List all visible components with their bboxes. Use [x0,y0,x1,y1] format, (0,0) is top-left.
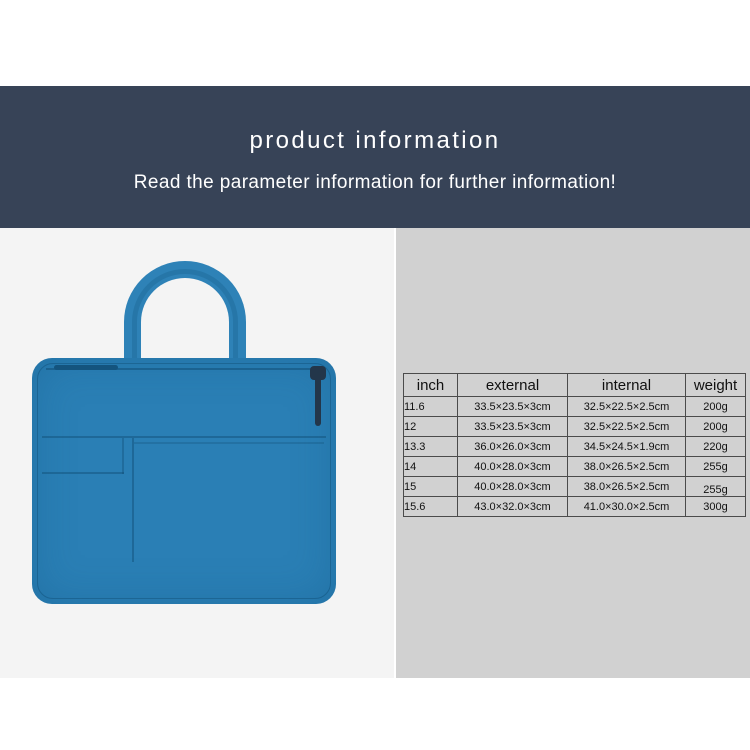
column-header-weight: weight [686,374,746,397]
cell-weight: 200g [686,417,746,437]
column-header-internal: internal [568,374,686,397]
cell-internal: 41.0×30.0×2.5cm [568,497,686,517]
bag-small-pocket-edge [122,438,124,474]
cell-internal: 38.0×26.5×2.5cm [568,477,686,497]
cell-external: 33.5×23.5×3cm [458,397,568,417]
bag-large-pocket-edge [134,442,324,444]
cell-external: 40.0×28.0×3cm [458,457,568,477]
bag-top-zipper-slot [54,365,118,370]
cell-internal: 32.5×22.5×2.5cm [568,397,686,417]
cell-weight: 255g [686,477,746,497]
table-row: 15.6 43.0×32.0×3cm 41.0×30.0×2.5cm 300g [404,497,746,517]
product-photo [0,228,394,678]
column-header-external: external [458,374,568,397]
specification-table: inch external internal weight 11.6 33.5×… [403,373,746,517]
cell-inch: 11.6 [404,397,458,417]
table-row: 15 40.0×28.0×3cm 38.0×26.5×2.5cm 255g [404,477,746,497]
cell-external: 43.0×32.0×3cm [458,497,568,517]
cell-weight: 255g [686,457,746,477]
cell-internal: 38.0×26.5×2.5cm [568,457,686,477]
banner-subtitle: Read the parameter information for furth… [134,173,616,192]
laptop-bag-illustration [32,316,336,604]
cell-external: 40.0×28.0×3cm [458,477,568,497]
cell-inch: 12 [404,417,458,437]
cell-internal: 32.5×22.5×2.5cm [568,417,686,437]
bag-front-pocket-seam [42,436,326,438]
product-information-page: product information Read the parameter i… [0,0,750,750]
bag-body [32,358,336,604]
table-row: 12 33.5×23.5×3cm 32.5×22.5×2.5cm 200g [404,417,746,437]
cell-external: 33.5×23.5×3cm [458,417,568,437]
table-row: 14 40.0×28.0×3cm 38.0×26.5×2.5cm 255g [404,457,746,477]
content-panels: inch external internal weight 11.6 33.5×… [0,228,750,678]
bag-small-pocket-seam [42,472,124,474]
cell-inch: 15.6 [404,497,458,517]
cell-inch: 14 [404,457,458,477]
cell-weight: 200g [686,397,746,417]
bag-pocket-vertical-seam [132,438,134,562]
cell-inch: 15 [404,477,458,497]
zipper-pull-icon [315,372,321,426]
cell-weight: 300g [686,497,746,517]
column-header-inch: inch [404,374,458,397]
product-photo-panel [0,228,394,678]
cell-internal: 34.5×24.5×1.9cm [568,437,686,457]
cell-weight: 220g [686,437,746,457]
cell-external: 36.0×26.0×3cm [458,437,568,457]
product-information-banner: product information Read the parameter i… [0,86,750,228]
bag-body-edge [37,363,331,599]
spec-table-wrapper: inch external internal weight 11.6 33.5×… [403,373,745,517]
table-row: 13.3 36.0×26.0×3cm 34.5×24.5×1.9cm 220g [404,437,746,457]
banner-title: product information [249,129,500,153]
specification-panel: inch external internal weight 11.6 33.5×… [396,228,750,678]
table-header-row: inch external internal weight [404,374,746,397]
table-row: 11.6 33.5×23.5×3cm 32.5×22.5×2.5cm 200g [404,397,746,417]
cell-inch: 13.3 [404,437,458,457]
